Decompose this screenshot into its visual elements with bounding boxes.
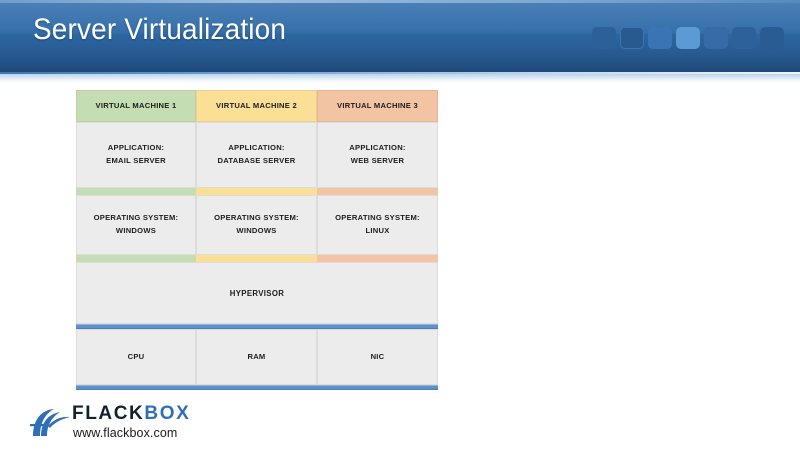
hardware-cpu-label: CPU: [128, 351, 145, 364]
application-cell-1: APPLICATION: EMAIL SERVER: [76, 122, 196, 188]
virtualization-diagram: VIRTUAL MACHINE 1 VIRTUAL MACHINE 2 VIRT…: [76, 90, 438, 390]
vm-color-strip-lower: [76, 255, 438, 262]
header-square-4: [676, 27, 700, 49]
vm-header-1-label: VIRTUAL MACHINE 1: [96, 100, 177, 113]
flackbox-swoosh-icon: [28, 406, 72, 440]
os-cell-3-line1: OPERATING SYSTEM:: [335, 212, 420, 225]
flackbox-wordmark: FLACKBOX: [72, 404, 190, 423]
application-cell-2: APPLICATION: DATABASE SERVER: [196, 122, 317, 188]
vm-header-3: VIRTUAL MACHINE 3: [317, 90, 438, 122]
logo-url-text: www.flackbox.com: [73, 426, 177, 440]
application-cell-3-line2: WEB SERVER: [351, 155, 404, 168]
hypervisor-label: HYPERVISOR: [230, 289, 284, 298]
header-square-5: [704, 27, 728, 49]
strip-segment-2: [196, 188, 317, 195]
header-square-decoration: [592, 27, 784, 49]
slide-header: Server Virtualization: [0, 0, 800, 72]
hardware-ram-label: RAM: [247, 351, 265, 364]
hardware-row: CPU RAM NIC: [76, 329, 438, 385]
flackbox-logo: FLACKBOX www.flackbox.com: [28, 402, 218, 444]
header-square-7: [760, 27, 784, 49]
application-cell-3-line1: APPLICATION:: [349, 142, 405, 155]
strip-segment-1: [76, 188, 196, 195]
logo-box-text: BOX: [144, 403, 190, 424]
vm-header-row: VIRTUAL MACHINE 1 VIRTUAL MACHINE 2 VIRT…: [76, 90, 438, 122]
strip-segment-6: [317, 255, 438, 262]
page-title: Server Virtualization: [33, 13, 286, 47]
os-cell-2-line2: WINDOWS: [236, 225, 276, 238]
os-cell-2: OPERATING SYSTEM: WINDOWS: [196, 195, 317, 255]
header-square-6: [732, 27, 756, 49]
strip-segment-4: [76, 255, 196, 262]
operating-system-row: OPERATING SYSTEM: WINDOWS OPERATING SYST…: [76, 195, 438, 255]
application-cell-2-line1: APPLICATION:: [228, 142, 284, 155]
os-cell-1-line2: WINDOWS: [116, 225, 156, 238]
header-square-2: [620, 27, 644, 49]
os-cell-1: OPERATING SYSTEM: WINDOWS: [76, 195, 196, 255]
header-divider-line: [0, 72, 800, 74]
hardware-nic-label: NIC: [371, 351, 385, 364]
hardware-cell-cpu: CPU: [76, 329, 196, 385]
vm-header-1: VIRTUAL MACHINE 1: [76, 90, 196, 122]
application-row: APPLICATION: EMAIL SERVER APPLICATION: D…: [76, 122, 438, 188]
vm-color-strip-upper: [76, 188, 438, 195]
application-cell-1-line1: APPLICATION:: [108, 142, 164, 155]
application-cell-2-line2: DATABASE SERVER: [217, 155, 295, 168]
hardware-cell-nic: NIC: [317, 329, 438, 385]
application-cell-1-line2: EMAIL SERVER: [106, 155, 166, 168]
vm-header-2: VIRTUAL MACHINE 2: [196, 90, 317, 122]
strip-segment-5: [196, 255, 317, 262]
vm-header-2-label: VIRTUAL MACHINE 2: [216, 100, 297, 113]
hardware-cell-ram: RAM: [196, 329, 317, 385]
hardware-bottom-bar: [76, 385, 438, 390]
vm-header-3-label: VIRTUAL MACHINE 3: [337, 100, 418, 113]
os-cell-3: OPERATING SYSTEM: LINUX: [317, 195, 438, 255]
os-cell-3-line2: LINUX: [365, 225, 389, 238]
hypervisor-block: HYPERVISOR: [76, 262, 438, 324]
strip-segment-3: [317, 188, 438, 195]
os-cell-2-line1: OPERATING SYSTEM:: [214, 212, 299, 225]
header-square-3: [648, 27, 672, 49]
header-top-accent-line: [0, 0, 800, 3]
header-square-1: [592, 27, 616, 49]
os-cell-1-line1: OPERATING SYSTEM:: [94, 212, 179, 225]
application-cell-3: APPLICATION: WEB SERVER: [317, 122, 438, 188]
logo-flack-text: FLACK: [72, 403, 144, 424]
